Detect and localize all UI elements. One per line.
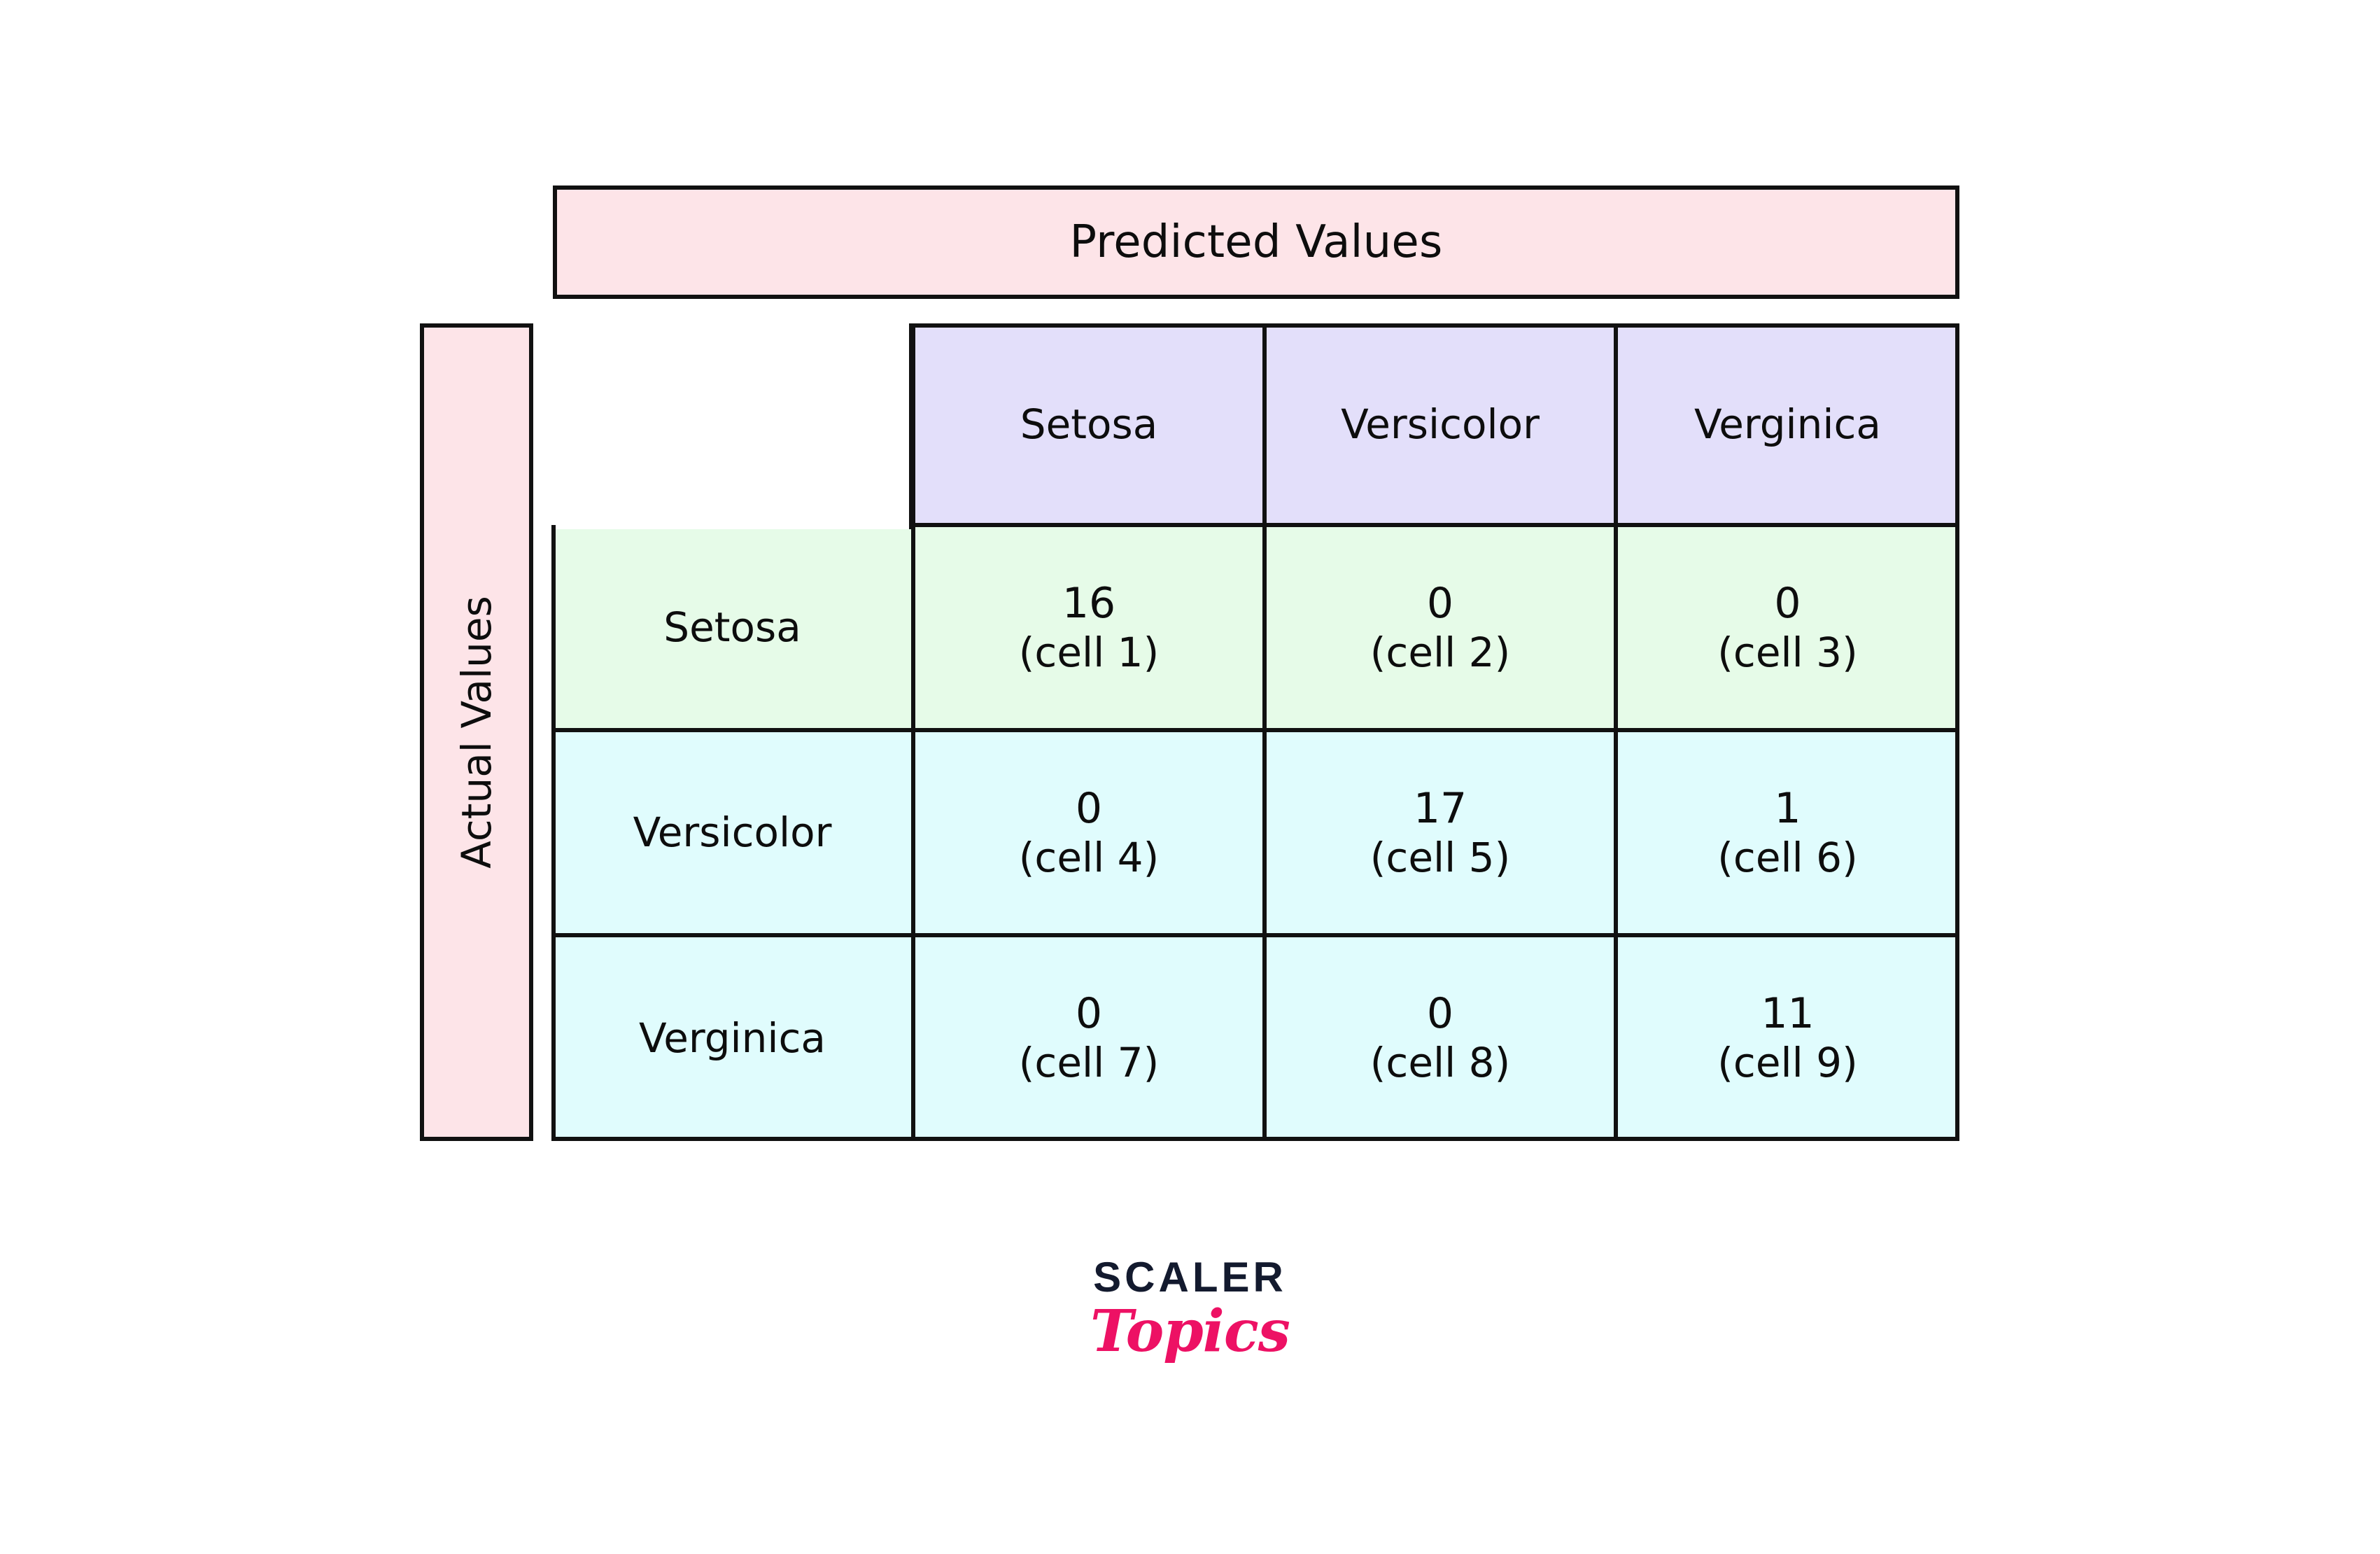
column-header-setosa: Setosa xyxy=(913,323,1265,525)
scaler-wordmark: SCALER xyxy=(1093,1256,1287,1298)
cell-count: 16 xyxy=(1062,579,1115,629)
cell-tag: (cell 6) xyxy=(1717,834,1857,881)
row-header-versicolor: Versicolor xyxy=(551,730,913,935)
cell-count: 0 xyxy=(1427,989,1453,1039)
row-header-setosa: Setosa xyxy=(551,525,913,730)
table-cell-1: 16 (cell 1) xyxy=(913,525,1265,730)
table-cell-2: 0 (cell 2) xyxy=(1265,525,1616,730)
cell-count: 1 xyxy=(1774,784,1801,834)
cell-count: 0 xyxy=(1427,579,1453,629)
cell-count: 0 xyxy=(1076,989,1102,1039)
cell-tag: (cell 2) xyxy=(1370,629,1510,676)
topics-scriptmark: Topics xyxy=(1090,1303,1290,1360)
table-cell-3: 0 (cell 3) xyxy=(1616,525,1959,730)
table-cell-4: 0 (cell 4) xyxy=(913,730,1265,935)
table-cell-5: 17 (cell 5) xyxy=(1265,730,1616,935)
cell-tag: (cell 1) xyxy=(1019,629,1159,676)
row-header-verginica: Verginica xyxy=(551,935,913,1141)
cell-tag: (cell 9) xyxy=(1717,1039,1857,1086)
cell-count: 0 xyxy=(1774,579,1801,629)
table-cell-8: 0 (cell 8) xyxy=(1265,935,1616,1141)
actual-values-banner: Actual Values xyxy=(420,323,533,1141)
predicted-values-banner: Predicted Values xyxy=(553,185,1959,299)
confusion-matrix: Setosa Versicolor Verginica Setosa 16 (c… xyxy=(551,323,1959,1141)
cell-tag: (cell 3) xyxy=(1717,629,1857,676)
predicted-values-label: Predicted Values xyxy=(1069,220,1442,265)
scaler-topics-logo: SCALER Topics xyxy=(0,1256,2380,1360)
table-cell-6: 1 (cell 6) xyxy=(1616,730,1959,935)
table-cell-7: 0 (cell 7) xyxy=(913,935,1265,1141)
actual-values-label: Actual Values xyxy=(456,596,497,869)
matrix-corner-cell xyxy=(551,323,913,525)
cell-tag: (cell 4) xyxy=(1019,834,1159,881)
cell-count: 11 xyxy=(1761,989,1814,1039)
cell-tag: (cell 7) xyxy=(1019,1039,1159,1086)
cell-tag: (cell 8) xyxy=(1370,1039,1510,1086)
cell-count: 17 xyxy=(1414,784,1467,834)
column-header-verginica: Verginica xyxy=(1616,323,1959,525)
table-cell-9: 11 (cell 9) xyxy=(1616,935,1959,1141)
column-header-versicolor: Versicolor xyxy=(1265,323,1616,525)
cell-tag: (cell 5) xyxy=(1370,834,1510,881)
cell-count: 0 xyxy=(1076,784,1102,834)
